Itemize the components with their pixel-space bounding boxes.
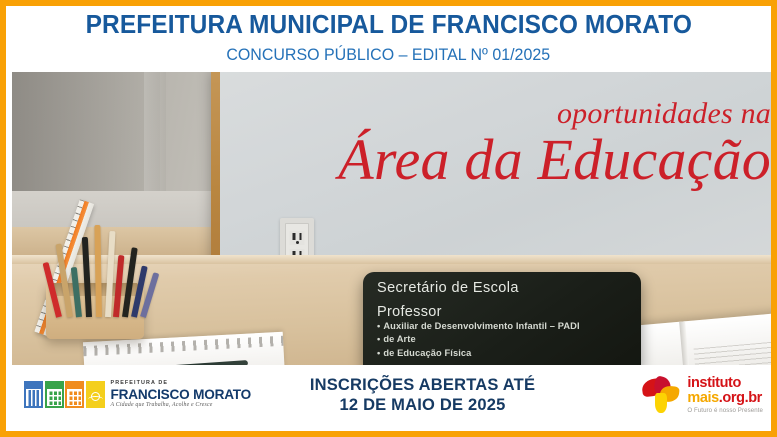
city-logo-prefix: PREFEITURA DE <box>111 381 252 386</box>
deadline-line-1: INSCRIÇÕES ABERTAS ATÉ <box>268 375 577 395</box>
factory-icon <box>65 381 84 408</box>
domain-label: .org.br <box>719 390 762 406</box>
instituto-tagline: O Futuro é nosso Presente <box>687 408 763 414</box>
city-logo-icon <box>24 381 105 408</box>
deadline-line-2: 12 DE MAIO DE 2025 <box>268 395 577 415</box>
deadline-block: INSCRIÇÕES ABERTAS ATÉ 12 DE MAIO DE 202… <box>268 375 577 415</box>
mais-org-br-label: mais.org.br <box>687 391 763 406</box>
city-logo: PREFEITURA DE FRANCISCO MORATO A Cidade … <box>12 381 268 408</box>
job-item: de Arte <box>377 333 641 346</box>
classroom-photo: oportunidades na Área da Educação <box>12 72 777 377</box>
jobs-panel: Secretário de Escola Professor Auxiliar … <box>363 272 641 368</box>
banner-footer: PREFEITURA DE FRANCISCO MORATO A Cidade … <box>12 365 777 425</box>
instituto-mais-logo[interactable]: instituto mais.org.br O Futuro é nosso P… <box>577 376 777 414</box>
job-item: Auxiliar de Desenvolvimento Infantil – P… <box>377 320 641 333</box>
mais-label: mais <box>687 390 718 406</box>
city-logo-name: FRANCISCO MORATO <box>111 388 252 402</box>
board-headline-large: Área da Educação <box>338 124 771 197</box>
page-title: PREFEITURA MUNICIPAL DE FRANCISCO MORATO <box>85 13 691 39</box>
outlet-socket <box>290 231 305 245</box>
apartment-icon <box>45 381 64 408</box>
instituto-mais-text: instituto mais.org.br O Futuro é nosso P… <box>687 376 763 414</box>
building-icon <box>24 381 43 408</box>
job-title-professor: Professor <box>377 305 641 320</box>
sun-icon <box>86 381 105 408</box>
instituto-mais-icon <box>642 377 680 413</box>
concurso-banner: PREFEITURA MUNICIPAL DE FRANCISCO MORATO… <box>0 0 777 437</box>
city-logo-slogan: A Cidade que Trabalha, Acolhe e Cresce <box>111 403 252 409</box>
banner-header: PREFEITURA MUNICIPAL DE FRANCISCO MORATO… <box>6 6 771 72</box>
page-subtitle: CONCURSO PÚBLICO – EDITAL Nº 01/2025 <box>227 45 551 65</box>
job-item: de Educação Física <box>377 347 641 360</box>
job-title-secretario: Secretário de Escola <box>377 281 641 297</box>
city-logo-text: PREFEITURA DE FRANCISCO MORATO A Cidade … <box>111 381 252 408</box>
instituto-label: instituto <box>687 376 763 391</box>
desk-edge <box>12 255 777 264</box>
